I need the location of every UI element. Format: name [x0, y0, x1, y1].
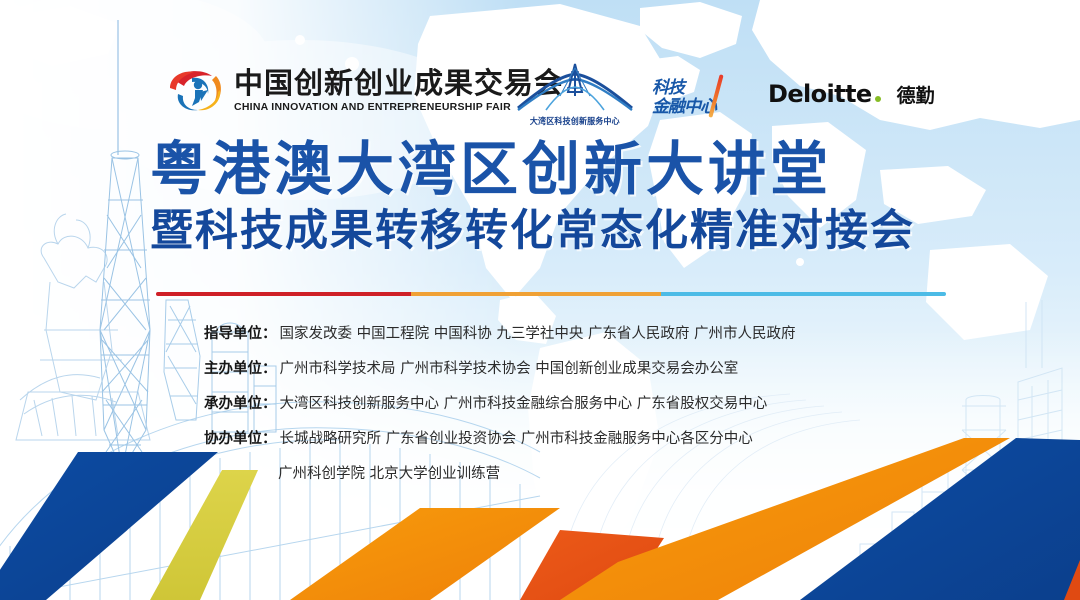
shape-orange-parallelogram [290, 508, 560, 600]
shape-yellow-parallelogram [150, 470, 258, 600]
organizer-value: 长城战略研究所 广东省创业投资协会 广州市科技金融服务中心各区分中心 [280, 427, 753, 448]
divider-segment-red [156, 292, 411, 296]
organizer-row: 协办单位： 长城战略研究所 广东省创业投资协会 广州市科技金融服务中心各区分中心 [204, 427, 796, 448]
logo-tech-finance: 科技 金融中心 [652, 80, 716, 116]
shape-red-sliver [1064, 560, 1080, 600]
logo-deloitte-word: Deloitte [768, 80, 872, 108]
organizer-value: 大湾区科技创新服务中心 广州市科技金融综合服务中心 广东省股权交易中心 [280, 392, 768, 413]
logo-cief-cn: 中国创新创业成果交易会 [234, 69, 564, 98]
organizer-row: 主办单位： 广州市科学技术局 广州市科学技术协会 中国创新创业成果交易会办公室 [204, 357, 796, 378]
organizer-continued: 广州科创学院 北京大学创业训练营 [278, 462, 796, 483]
logo-deloitte: Deloitte 德勤 [768, 80, 935, 108]
organizer-label: 协办单位： [204, 427, 277, 448]
bridge-icon [516, 62, 634, 114]
organizer-row: 指导单位： 国家发改委 中国工程院 中国科协 九三学社中央 广东省人民政府 广州… [204, 322, 796, 343]
organizer-value: 广州市科学技术局 广州市科学技术协会 中国创新创业成果交易会办公室 [280, 357, 739, 378]
sponsor-logo-bar: 中国创新创业成果交易会 CHINA INNOVATION AND ENTREPR… [0, 62, 1080, 138]
logo-bay-area-caption: 大湾区科技创新服务中心 [530, 115, 620, 127]
right-towers-icon [860, 300, 1062, 600]
divider-segment-blue [661, 292, 946, 296]
logo-cief-en: CHINA INNOVATION AND ENTREPRENEURSHIP FA… [234, 102, 564, 113]
organizer-row: 承办单位： 大湾区科技创新服务中心 广州市科技金融综合服务中心 广东省股权交易中… [204, 392, 796, 413]
organizer-list: 指导单位： 国家发改委 中国工程院 中国科协 九三学社中央 广东省人民政府 广州… [204, 322, 796, 483]
organizer-label: 指导单位： [204, 322, 277, 343]
shape-blue-parallelogram [0, 452, 218, 600]
organizer-label: 承办单位： [204, 392, 277, 413]
logo-deloitte-cn: 德勤 [897, 81, 935, 108]
logo-bay-area: 大湾区科技创新服务中心 [516, 62, 634, 127]
organizer-label: 主办单位： [204, 357, 277, 378]
cief-swirl-emblem-icon [168, 68, 226, 114]
divider-segment-orange [411, 292, 661, 296]
logo-tech-finance-line2: 金融中心 [652, 99, 716, 116]
shape-red-parallelogram [520, 530, 664, 600]
shape-blue-wedge [800, 438, 1080, 600]
poster-title-line2: 暨科技成果转移转化常态化精准对接会 [150, 210, 915, 253]
logo-cief: 中国创新创业成果交易会 CHINA INNOVATION AND ENTREPR… [168, 68, 564, 114]
poster-title-line1: 粤港澳大湾区创新大讲堂 [150, 140, 915, 198]
deloitte-green-dot-icon [875, 96, 881, 102]
five-rams-statue-icon [16, 214, 150, 440]
organizer-value: 国家发改委 中国工程院 中国科协 九三学社中央 广东省人民政府 广州市人民政府 [280, 322, 796, 343]
tricolor-divider [156, 292, 946, 296]
poster-canvas: 中国创新创业成果交易会 CHINA INNOVATION AND ENTREPR… [0, 0, 1080, 600]
logo-tech-finance-line1: 科技 [652, 80, 716, 97]
title-block: 粤港澳大湾区创新大讲堂 暨科技成果转移转化常态化精准对接会 [150, 140, 915, 253]
